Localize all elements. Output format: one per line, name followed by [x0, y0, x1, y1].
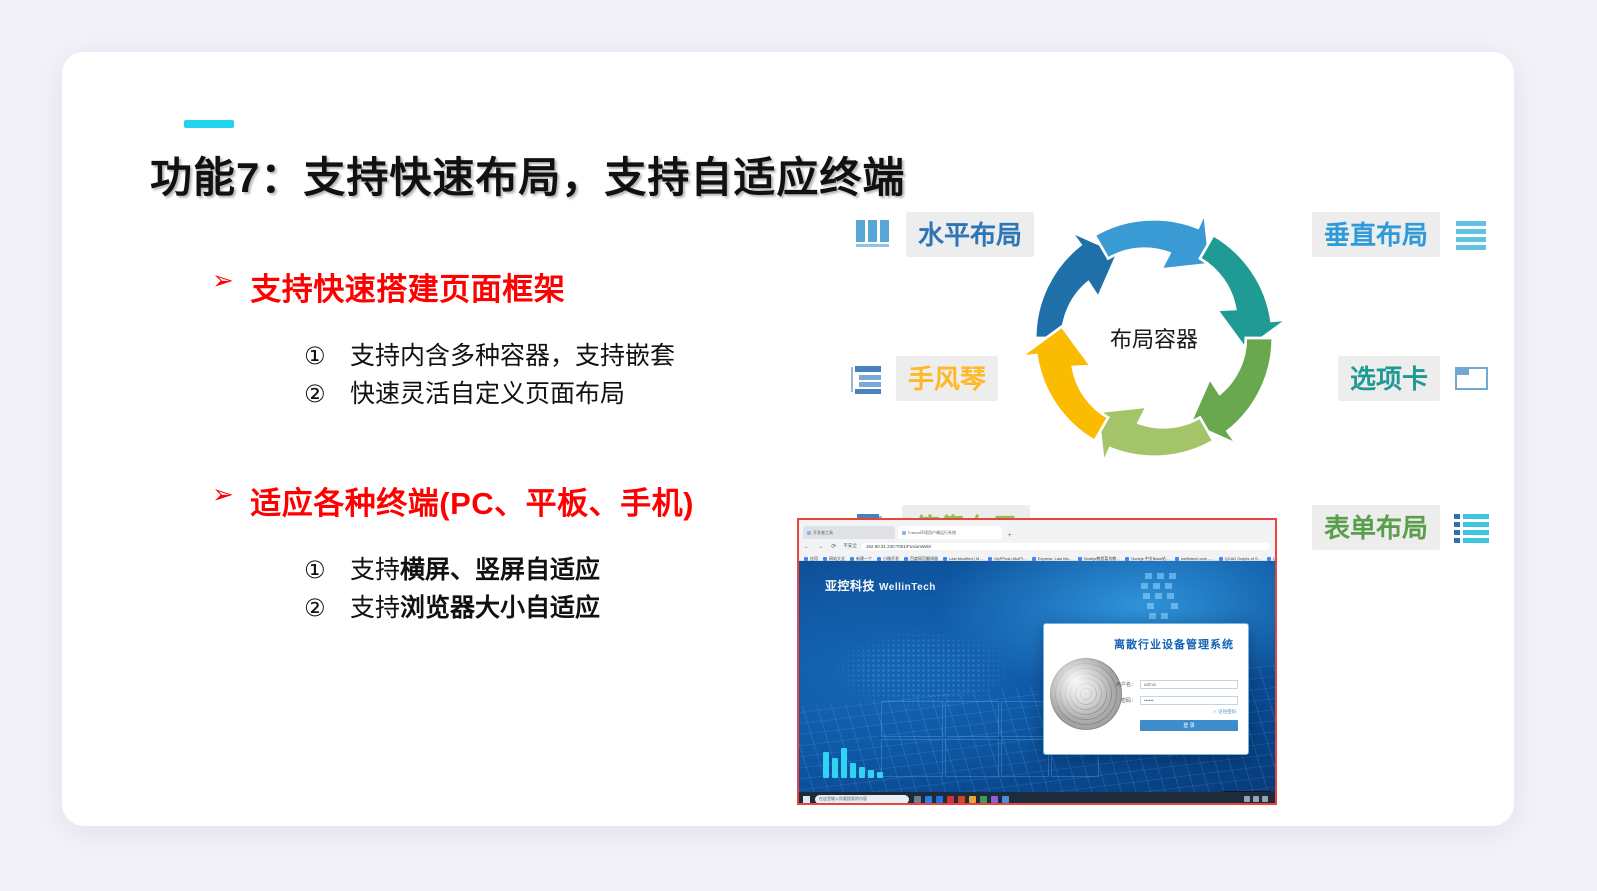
bookmark-favicon-icon [988, 557, 992, 561]
label-horizontal-layout[interactable]: 水平布局 [856, 212, 1034, 257]
list-item-text: 支持横屏、竖屏自适应 [350, 551, 600, 589]
login-panel: 离散行业设备管理系统 用户名： admin 密码： •••••• ✓ 记住密码 … [1043, 623, 1249, 755]
bookmark-favicon-icon [1267, 557, 1271, 561]
password-row: 密码： •••••• [1110, 696, 1238, 705]
site-logo: 亚控科技WellinTech [825, 577, 936, 594]
chrome-icon[interactable] [936, 796, 943, 803]
taskbar-pinned-apps [914, 796, 1009, 803]
security-badge: 不安全 [843, 543, 857, 549]
bullet-block-2: ➢ 适应各种终端(PC、平板、手机) ① 支持横屏、竖屏自适应 ② 支持浏览器大… [212, 478, 852, 628]
tray-icon[interactable] [1244, 796, 1250, 802]
password-label: 密码： [1110, 697, 1136, 704]
list-item-number: ① [304, 553, 350, 589]
label-form-layout-text: 表单布局 [1312, 505, 1440, 550]
browser-tab-active[interactable]: Fusion环境用户端运行系统 [898, 526, 1002, 539]
list-item: ① 支持内含多种容器，支持嵌套 [304, 337, 852, 375]
label-horizontal-layout-text: 水平布局 [906, 212, 1034, 257]
app-icon[interactable] [1002, 796, 1009, 803]
sub-list-2: ① 支持横屏、竖屏自适应 ② 支持浏览器大小自适应 [304, 551, 852, 628]
page-title: 功能7：支持快速布局，支持自适应终端 [150, 144, 905, 205]
label-accordion-text: 手风琴 [896, 356, 998, 401]
bookmark-favicon-icon [823, 557, 827, 561]
label-form-layout[interactable]: 表单布局 [1312, 505, 1490, 550]
taskbar-system-tray [1244, 796, 1271, 802]
username-row: 用户名： admin [1110, 680, 1238, 689]
network-icon[interactable] [1253, 796, 1259, 802]
bookmark-favicon-icon [1032, 557, 1036, 561]
dot-matrix-decoration [1137, 573, 1197, 621]
bookmark-favicon-icon [904, 557, 908, 561]
password-input[interactable]: •••••• [1140, 696, 1238, 705]
label-vertical-layout[interactable]: 垂直布局 [1312, 212, 1490, 257]
bullet-arrow-icon: ➢ [212, 478, 234, 511]
list-item-text: 快速灵活自定义页面布局 [350, 375, 625, 413]
label-tab-text: 选项卡 [1338, 356, 1440, 401]
browser-tab[interactable]: 开发者工具 [803, 526, 895, 539]
rows-icon [1454, 220, 1490, 250]
browser-tab-title: Fusion环境用户端运行系统 [908, 530, 956, 536]
list-item: ① 支持横屏、竖屏自适应 [304, 551, 852, 589]
bullet-heading-2: ➢ 适应各种终端(PC、平板、手机) [212, 478, 852, 523]
sub-list-1: ① 支持内含多种容器，支持嵌套 ② 快速灵活自定义页面布局 [304, 337, 852, 414]
tab-window-icon [1454, 364, 1490, 394]
browser-omnibox-row: ← → ⟳ 不安全 192.90.31.230:7001/FusionWeb/ [799, 539, 1275, 553]
bullet-heading-2-text: 适应各种终端(PC、平板、手机) [250, 478, 694, 523]
bullet-heading-1-text: 支持快速搭建页面框架 [250, 264, 565, 309]
tree-list-icon [846, 364, 882, 394]
login-panel-title: 离散行业设备管理系统 [1044, 624, 1248, 652]
label-accordion[interactable]: 手风琴 [846, 356, 998, 401]
office-icon[interactable] [958, 796, 965, 803]
bookmark-favicon-icon [1175, 557, 1179, 561]
list-item-number: ② [304, 591, 350, 627]
folder-icon[interactable] [969, 796, 976, 803]
username-input[interactable]: admin [1140, 680, 1238, 689]
url-input[interactable]: 192.90.31.230:7001/FusionWeb/ [861, 543, 1270, 550]
form-list-icon [1454, 513, 1490, 543]
columns-icon [856, 220, 892, 250]
bullet-block-1: ➢ 支持快速搭建页面框架 ① 支持内含多种容器，支持嵌套 ② 快速灵活自定义页面… [212, 264, 852, 414]
username-label: 用户名： [1110, 681, 1136, 688]
list-item-number: ① [304, 339, 350, 375]
explorer-icon[interactable] [925, 796, 932, 803]
tool-icon[interactable] [991, 796, 998, 803]
circular-arrow-chart: 布局容器 [1019, 188, 1289, 488]
list-item: ② 快速灵活自定义页面布局 [304, 375, 852, 413]
login-form: 用户名： admin 密码： •••••• ✓ 记住密码 登 录 [1110, 680, 1238, 731]
bookmark-favicon-icon [1078, 557, 1082, 561]
taskview-icon[interactable] [914, 796, 921, 803]
title-accent-bar [184, 120, 234, 128]
tab-favicon-icon [807, 531, 811, 535]
list-item: ② 支持浏览器大小自适应 [304, 589, 852, 627]
pdf-icon[interactable] [947, 796, 954, 803]
bookmark-favicon-icon [943, 557, 947, 561]
label-vertical-layout-text: 垂直布局 [1312, 212, 1440, 257]
login-submit-button[interactable]: 登 录 [1140, 720, 1238, 731]
bookmark-favicon-icon [1219, 557, 1223, 561]
slide-card: 功能7：支持快速布局，支持自适应终端 ➢ 支持快速搭建页面框架 ① 支持内含多种… [62, 52, 1514, 826]
browser-screenshot-thumbnail: 开发者工具 Fusion环境用户端运行系统 + ← → ⟳ 不安全 192.90… [797, 518, 1277, 805]
volume-icon[interactable] [1262, 796, 1268, 802]
new-tab-button[interactable]: + [1005, 533, 1015, 539]
layout-container-diagram: 布局容器 水平布局 手风琴 停靠布局 垂直布局 选项卡 表单布局 [804, 160, 1504, 550]
left-content-column: ➢ 支持快速搭建页面框架 ① 支持内含多种容器，支持嵌套 ② 快速灵活自定义页面… [212, 264, 852, 628]
remember-password-checkbox[interactable]: ✓ 记住密码 [1110, 709, 1236, 715]
web-page-content: 亚控科技WellinTech [799, 561, 1275, 805]
bullet-heading-1: ➢ 支持快速搭建页面框架 [212, 264, 852, 309]
browser-tab-strip: 开发者工具 Fusion环境用户端运行系统 + [799, 520, 1275, 539]
bullet-arrow-icon: ➢ [212, 264, 234, 297]
label-tab[interactable]: 选项卡 [1338, 356, 1490, 401]
windows-taskbar: 在这里输入你要搜索的内容 [799, 792, 1275, 805]
bookmark-favicon-icon [850, 557, 854, 561]
bookmark-favicon-icon [804, 557, 808, 561]
browser-nav-buttons[interactable]: ← → ⟳ [804, 543, 839, 550]
taskbar-search-input[interactable]: 在这里输入你要搜索的内容 [815, 795, 909, 804]
browser-chrome: 开发者工具 Fusion环境用户端运行系统 + ← → ⟳ 不安全 192.90… [799, 520, 1275, 561]
browser-tab-title: 开发者工具 [813, 530, 833, 536]
tab-favicon-icon [902, 531, 906, 535]
list-item-text: 支持内含多种容器，支持嵌套 [350, 337, 675, 375]
bar-chart-decoration [823, 748, 883, 778]
start-button-icon[interactable] [803, 796, 810, 803]
list-item-number: ② [304, 377, 350, 413]
list-item-text: 支持浏览器大小自适应 [350, 589, 600, 627]
bookmark-favicon-icon [1125, 557, 1129, 561]
excel-icon[interactable] [980, 796, 987, 803]
bookmark-favicon-icon [877, 557, 881, 561]
